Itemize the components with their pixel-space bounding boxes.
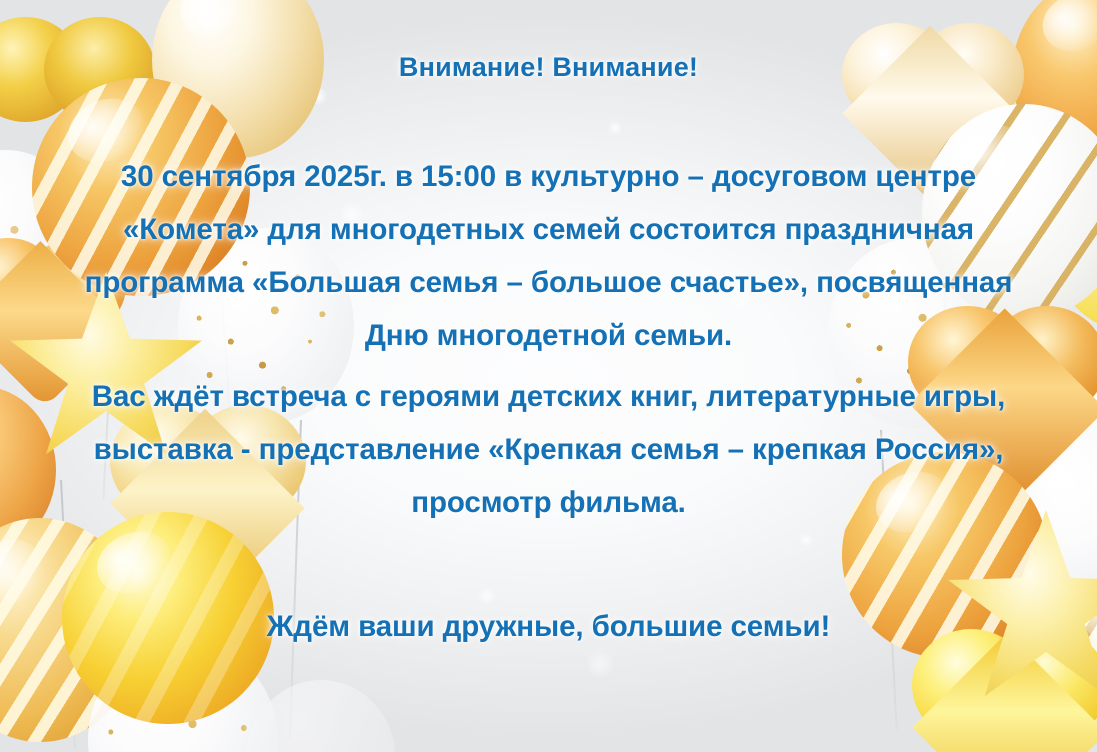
poster-canvas: Внимание! Внимание! 30 сентября 2025г. в… [0, 0, 1097, 752]
announcement-paragraph-2: Вас ждёт встреча с героями детских книг,… [52, 370, 1045, 529]
page-title: Внимание! Внимание! [0, 52, 1097, 83]
announcement-paragraph-1: 30 сентября 2025г. в 15:00 в культурно –… [52, 150, 1045, 362]
announcement-closing-line: Ждём ваши дружные, большие семьи! [52, 600, 1045, 653]
